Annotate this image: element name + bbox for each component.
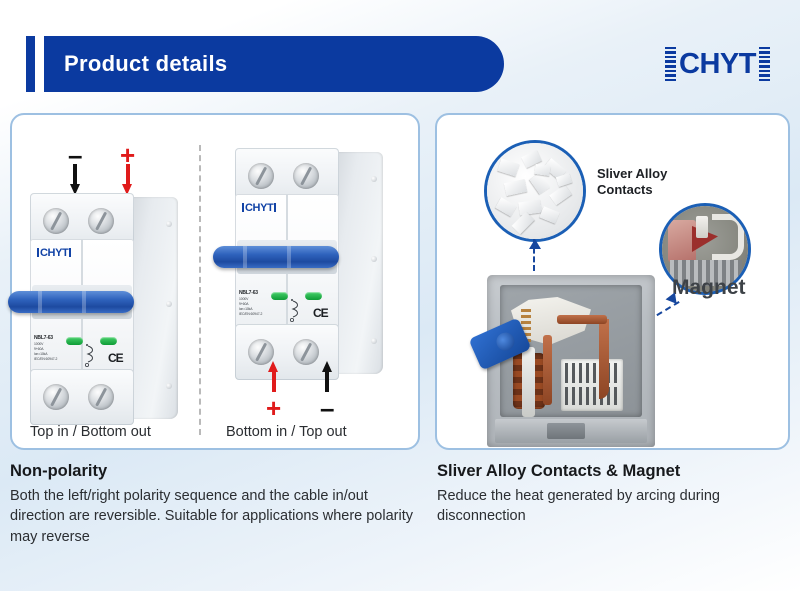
company-logo: CHYT: [665, 42, 770, 86]
toggle-lever[interactable]: [8, 291, 134, 313]
device-front-face: CHYT NBL7-63 1000V 9+60A Icn=10kA IEC/EN…: [30, 239, 134, 379]
logo-left-bars-icon: [665, 47, 676, 82]
copper-conductor: [543, 335, 552, 405]
terminal-screw-icon: [293, 163, 319, 189]
ce-mark-icon: CE: [313, 306, 328, 320]
circuit-schematic-icon: [84, 343, 104, 369]
marker-positive-top: +: [120, 146, 135, 194]
callout-label-contacts: Sliver Alloy Contacts: [597, 166, 667, 199]
header: Product details CHYT: [0, 36, 800, 92]
footer-left-title: Non-polarity: [10, 462, 107, 481]
logo-right-bars-icon: [759, 47, 770, 82]
minus-sign-icon: –: [68, 146, 82, 164]
callout-sliver-alloy-contacts: [487, 143, 583, 239]
header-accent-tick: [26, 36, 35, 92]
minus-sign-icon: –: [320, 399, 334, 417]
device-brand-label: CHYT: [36, 247, 72, 259]
terminal-screw-icon: [88, 384, 114, 410]
toggle-lever[interactable]: [213, 246, 339, 268]
caption-bottom-in-top-out: Bottom in / Top out: [226, 424, 347, 440]
arrow-down-icon: [123, 164, 132, 194]
terminal-screw-icon: [293, 339, 319, 365]
arrow-down-icon: [71, 164, 80, 194]
page-title: Product details: [64, 36, 227, 92]
status-led-icon: [66, 337, 83, 345]
slide-root: Product details CHYT – +: [0, 0, 800, 591]
caption-top-in-bottom-out: Top in / Bottom out: [30, 424, 151, 440]
arc-chute: [561, 359, 623, 411]
footer-right-body: Reduce the heat generated by arcing duri…: [437, 486, 787, 527]
breaker-device-bottom-in: CHYT NBL7-63 1000V 9+60A Icn=10kA IEC/EN…: [235, 148, 383, 380]
breaker-cutaway-view: [487, 275, 655, 447]
copper-busbar: [557, 315, 607, 324]
callout-label-magnet: Magnet: [672, 276, 746, 300]
arrow-up-icon: [323, 362, 332, 392]
arrow-up-icon: [269, 362, 278, 392]
plus-sign-icon: +: [266, 399, 281, 417]
terminal-screw-icon: [88, 208, 114, 234]
panel-divider: [199, 145, 201, 435]
marker-positive-bottom: +: [266, 362, 281, 417]
status-led-icon: [271, 292, 288, 300]
copper-conductor: [599, 319, 609, 399]
ce-mark-icon: CE: [108, 351, 123, 365]
footer-left-body: Both the left/right polarity sequence an…: [10, 486, 422, 547]
din-rail-clip: [495, 419, 647, 443]
terminal-screw-icon: [43, 208, 69, 234]
circuit-schematic-icon: [289, 298, 309, 324]
leader-arrow-contacts: [529, 239, 541, 249]
plus-sign-icon: +: [120, 146, 135, 164]
breaker-device-top-in: CHYT NBL7-63 1000V 9+60A Icn=10kA IEC/EN…: [30, 193, 178, 425]
footer-right-title: Sliver Alloy Contacts & Magnet: [437, 462, 680, 481]
terminal-block-bottom: [30, 369, 134, 425]
terminal-screw-icon: [248, 163, 274, 189]
marker-negative-bottom: –: [320, 362, 334, 417]
terminal-screw-icon: [43, 384, 69, 410]
marker-negative-top: –: [68, 146, 82, 194]
device-brand-label: CHYT: [241, 202, 277, 214]
logo-text: CHYT: [679, 48, 756, 81]
device-front-face: CHYT NBL7-63 1000V 9+60A Icn=10kA IEC/EN…: [235, 194, 339, 334]
solenoid-coil: [513, 353, 545, 409]
